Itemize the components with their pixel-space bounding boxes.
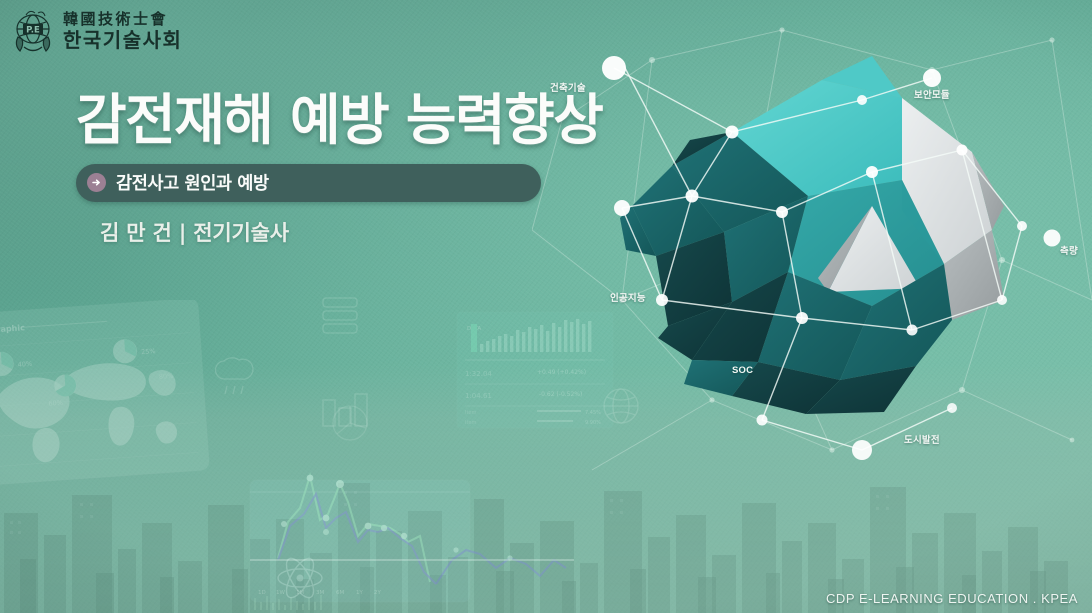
subtitle-text: 감전사고 원인과 예방: [116, 170, 269, 195]
subtitle-badge: 감전사고 원인과 예방: [76, 164, 541, 202]
svg-text:P.E: P.E: [26, 25, 40, 35]
organization-logo: P.E 韓國技術士會 한국기술사회: [10, 7, 182, 55]
footer-text: CDP E-LEARNING EDUCATION . KPEA: [826, 591, 1078, 606]
page-title: 감전재해 예방 능력향상: [76, 92, 602, 150]
logo-hangul-text: 한국기술사회: [63, 30, 182, 50]
title-block: 감전재해 예방 능력향상 감전사고 원인과 예방 김 만 건 | 전기기술사: [76, 92, 602, 247]
presentation-title-slide: Infographic 40%: [0, 0, 1092, 613]
logo-hanja-text: 韓國技術士會: [63, 12, 182, 27]
arrow-right-icon: [87, 173, 106, 192]
presenter-name: 김 만 건 | 전기기술사: [100, 217, 602, 247]
pe-globe-laurel-emblem: P.E: [10, 7, 56, 55]
